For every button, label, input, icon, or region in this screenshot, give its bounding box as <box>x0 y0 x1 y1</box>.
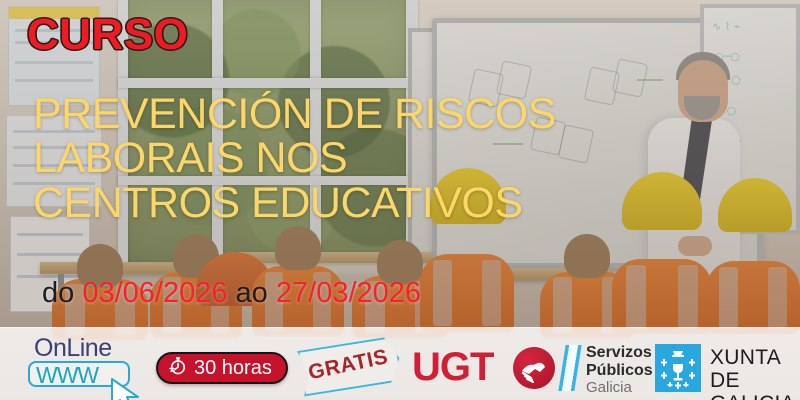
servizos-line-2: Públicos <box>586 362 653 380</box>
course-dates: do 03/06/2026 ao 27/03/2026 <box>42 277 421 310</box>
course-title-line-1: PREVENCIÓN DE RISCOS <box>33 92 773 136</box>
galicia-coat-of-arms-icon <box>655 344 701 392</box>
ugt-logo: UGT <box>412 345 493 390</box>
online-badge: OnLine WWW <box>28 334 138 394</box>
duration-label: 30 horas <box>194 357 272 380</box>
kicker-curso: CURSO <box>27 10 188 60</box>
date-to-value: 27/03/2026 <box>276 277 421 309</box>
xunta-line-2: DE GALICIA <box>710 369 800 400</box>
date-from-word: do <box>42 277 74 309</box>
online-label: OnLine <box>34 334 112 363</box>
servizos-publicos-logo: Servizos Públicos Galicia <box>586 344 653 397</box>
course-title: PREVENCIÓN DE RISCOS LABORAIS NOS CENTRO… <box>33 92 773 225</box>
xunta-line-1: XUNTA <box>710 346 800 369</box>
duration-badge: 30 horas <box>156 352 288 384</box>
course-title-line-3: CENTROS EDUCATIVOS <box>33 181 773 225</box>
handshake-icon <box>513 347 555 389</box>
course-title-line-2: LABORAIS NOS <box>33 136 773 180</box>
servizos-line-1: Servizos <box>586 344 653 362</box>
date-from-value: 03/06/2026 <box>82 277 227 309</box>
date-to-word: ao <box>236 277 268 309</box>
stopwatch-icon <box>168 356 188 381</box>
xunta-logo-text: XUNTA DE GALICIA <box>710 346 800 400</box>
servizos-line-3: Galicia <box>586 380 653 397</box>
course-promo-banner: ∿ ⌇ ⌁ ○─○ ⬡ ⬡ ∿ ○ ⬡ ⌁ <box>0 0 800 400</box>
